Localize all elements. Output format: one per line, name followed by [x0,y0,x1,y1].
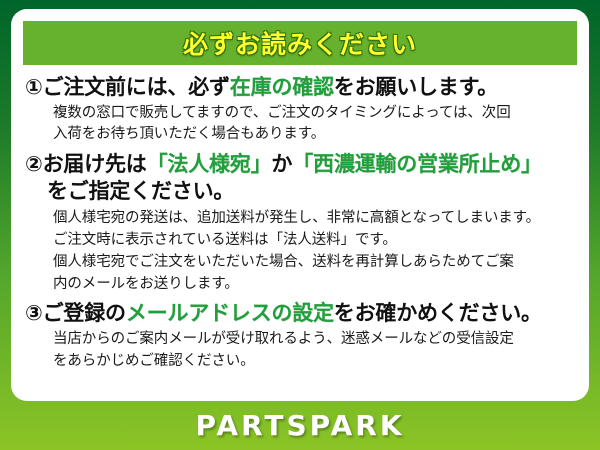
notice-item-3-body-line-1: 当店からのご案内メールが受け取れるよう、迷惑メールなどの受信設定 [53,329,575,351]
brand-logo-text: PARTSPARK [195,409,404,442]
notice-item-2-body: 個人様宅宛の発送は、追加送料が発生し、非常に高額となってしまいます。 ご注文時に… [25,208,575,295]
notice-item-1-heading: ①ご注文前には、必ず在庫の確認をお願いします。 [25,74,575,101]
notice-item-2-heading-part-3: か [271,152,292,176]
notice-item-2-body-line-4: 内のメールをお送りします。 [53,274,575,296]
notice-item-3-heading-part-3: をお確かめください。 [334,301,542,325]
notice-item-1-heading-highlight: 在庫の確認 [230,75,334,99]
notice-item-2-heading: ②お届け先は「法人様宛」か「西濃運輸の営業所止め」 [25,151,575,178]
notice-item-1-body-line-2: 入荷をお待ち頂いただく場合もあります。 [53,124,575,146]
notice-item-2-heading-part-1: お届け先は [43,152,147,176]
notice-item-1-body-line-1: 複数の窓口で販売してますので、ご注文のタイミングによっては、次回 [53,103,575,125]
notice-title-bar: 必ずお読みください [23,21,577,65]
notice-item-3-marker: ③ [25,301,43,325]
notice-item-3-heading-part-1: ご登録の [43,301,126,325]
notice-item-2-body-line-2: ご注文時に表示されている送料は「法人送料」です。 [53,230,575,252]
notice-card: 必ずお読みください ①ご注文前には、必ず在庫の確認をお願いします。 複数の窓口で… [0,0,600,450]
notice-item-2-heading-highlight-1: 「法人様宛」 [147,152,272,176]
notice-item-2: ②お届け先は「法人様宛」か「西濃運輸の営業所止め」 をご指定ください。 個人様宅… [25,151,575,295]
notice-item-1-body: 複数の窓口で販売してますので、ご注文のタイミングによっては、次回 入荷をお待ち頂… [25,103,575,147]
notice-item-3: ③ご登録のメールアドレスの設定をお確かめください。 当店からのご案内メールが受け… [25,300,575,372]
page-title: 必ずお読みください [183,25,417,61]
notice-panel: 必ずお読みください ①ご注文前には、必ず在庫の確認をお願いします。 複数の窓口で… [11,9,589,401]
notice-item-1-marker: ① [25,75,43,99]
notice-item-2-marker: ② [25,152,43,176]
notice-item-1: ①ご注文前には、必ず在庫の確認をお願いします。 複数の窓口で販売してますので、ご… [25,74,575,146]
notice-item-1-heading-part-3: をお願いします。 [334,75,498,99]
notice-item-2-body-line-3: 個人様宅宛でご注文をいただいた場合、送料を再計算しあらためてご案 [53,252,575,274]
notice-item-2-heading-continuation: をご指定ください。 [25,178,575,205]
notice-footer: PARTSPARK [0,401,600,450]
notice-item-2-heading-highlight-2: 「西濃運輸の営業所止め」 [292,152,542,176]
notice-item-1-heading-part-1: ご注文前には、必ず [43,75,230,99]
notice-item-3-heading: ③ご登録のメールアドレスの設定をお確かめください。 [25,300,575,327]
notice-item-3-body: 当店からのご案内メールが受け取れるよう、迷惑メールなどの受信設定 をあらかじめご… [25,329,575,373]
notice-item-2-body-line-1: 個人様宅宛の発送は、追加送料が発生し、非常に高額となってしまいます。 [53,208,575,230]
notice-items-list: ①ご注文前には、必ず在庫の確認をお願いします。 複数の窓口で販売してますので、ご… [23,65,577,373]
notice-item-3-body-line-2: をあらかじめご確認ください。 [53,351,575,373]
notice-item-3-heading-highlight: メールアドレスの設定 [126,301,334,325]
